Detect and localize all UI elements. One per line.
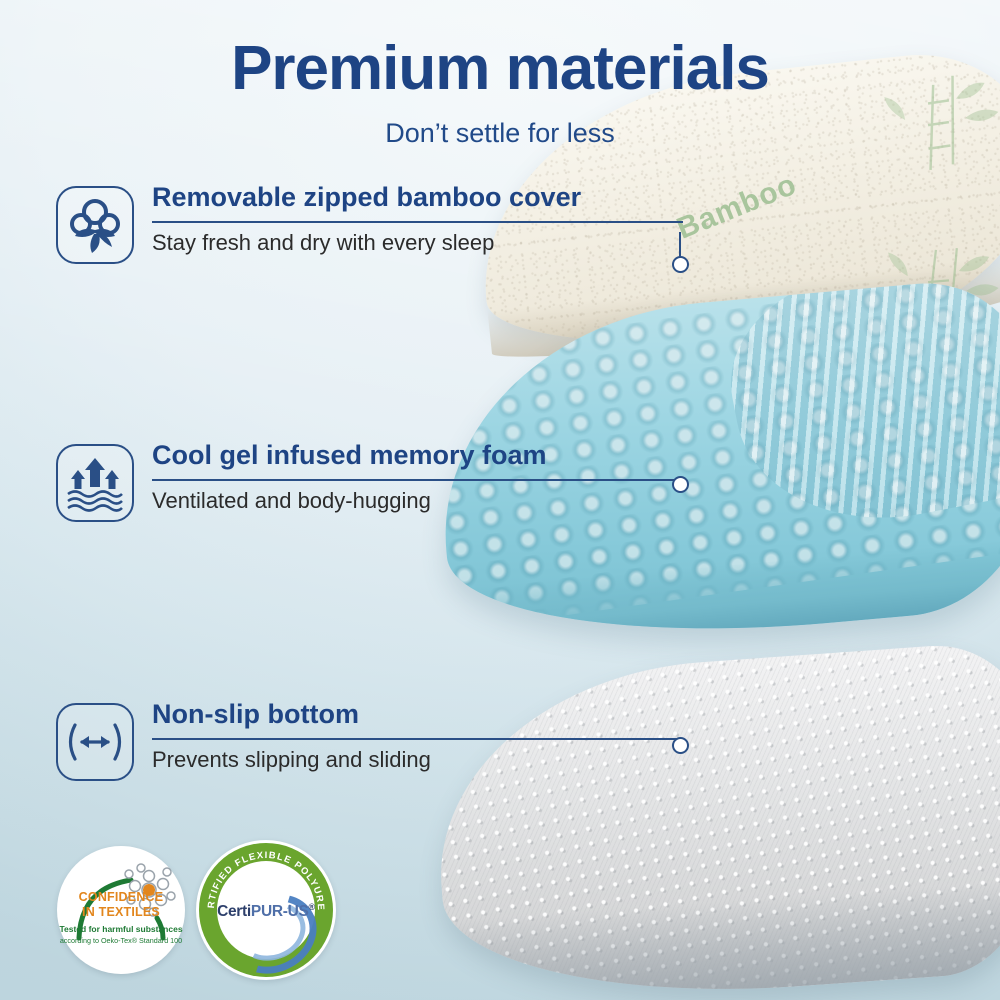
feature-heading: Removable zipped bamboo cover (152, 182, 752, 219)
infographic-canvas: Bamboo (0, 0, 1000, 1000)
oeko-line-3: Tested for harmful substances (57, 924, 185, 934)
airflow-waves-icon (56, 444, 134, 522)
oeko-tex-badge: CONFIDENCE IN TEXTILES Tested for harmfu… (57, 846, 185, 974)
feature-subtext: Stay fresh and dry with every sleep (152, 230, 752, 256)
oeko-line-4: according to Oeko-Tex® Standard 100 (57, 936, 185, 945)
feature-subtext: Prevents slipping and sliding (152, 747, 752, 773)
feature-text-block: Non-slip bottom Prevents slipping and sl… (152, 699, 752, 773)
feature-subtext: Ventilated and body-hugging (152, 488, 752, 514)
page-subtitle: Don’t settle for less (0, 118, 1000, 149)
feature-text-block: Cool gel infused memory foam Ventilated … (152, 440, 752, 514)
feature-divider (152, 738, 683, 740)
connector-dot-1 (672, 256, 689, 273)
connector-dot-2 (672, 476, 689, 493)
oeko-line-1: CONFIDENCE (57, 890, 185, 904)
horizontal-arrow-grip-icon (56, 703, 134, 781)
certipur-wordmark: CertiPUR-US® (196, 902, 336, 921)
connector-dot-3 (672, 737, 689, 754)
feature-divider (152, 221, 683, 223)
feature-heading: Cool gel infused memory foam (152, 440, 752, 477)
feature-text-block: Removable zipped bamboo cover Stay fresh… (152, 182, 752, 256)
feature-heading: Non-slip bottom (152, 699, 752, 736)
certipur-registered-mark: ® (309, 902, 315, 912)
oeko-line-2: IN TEXTILES (57, 905, 185, 919)
certipur-name-prefix: Certi (217, 903, 251, 920)
certipur-name-main: PUR-US (251, 903, 309, 920)
cotton-boll-icon (56, 186, 134, 264)
certipur-us-badge: CONTAINS CERTIFIED FLEXIBLE POLYURETHANE… (196, 840, 336, 980)
feature-divider (152, 479, 683, 481)
page-title: Premium materials (0, 36, 1000, 101)
